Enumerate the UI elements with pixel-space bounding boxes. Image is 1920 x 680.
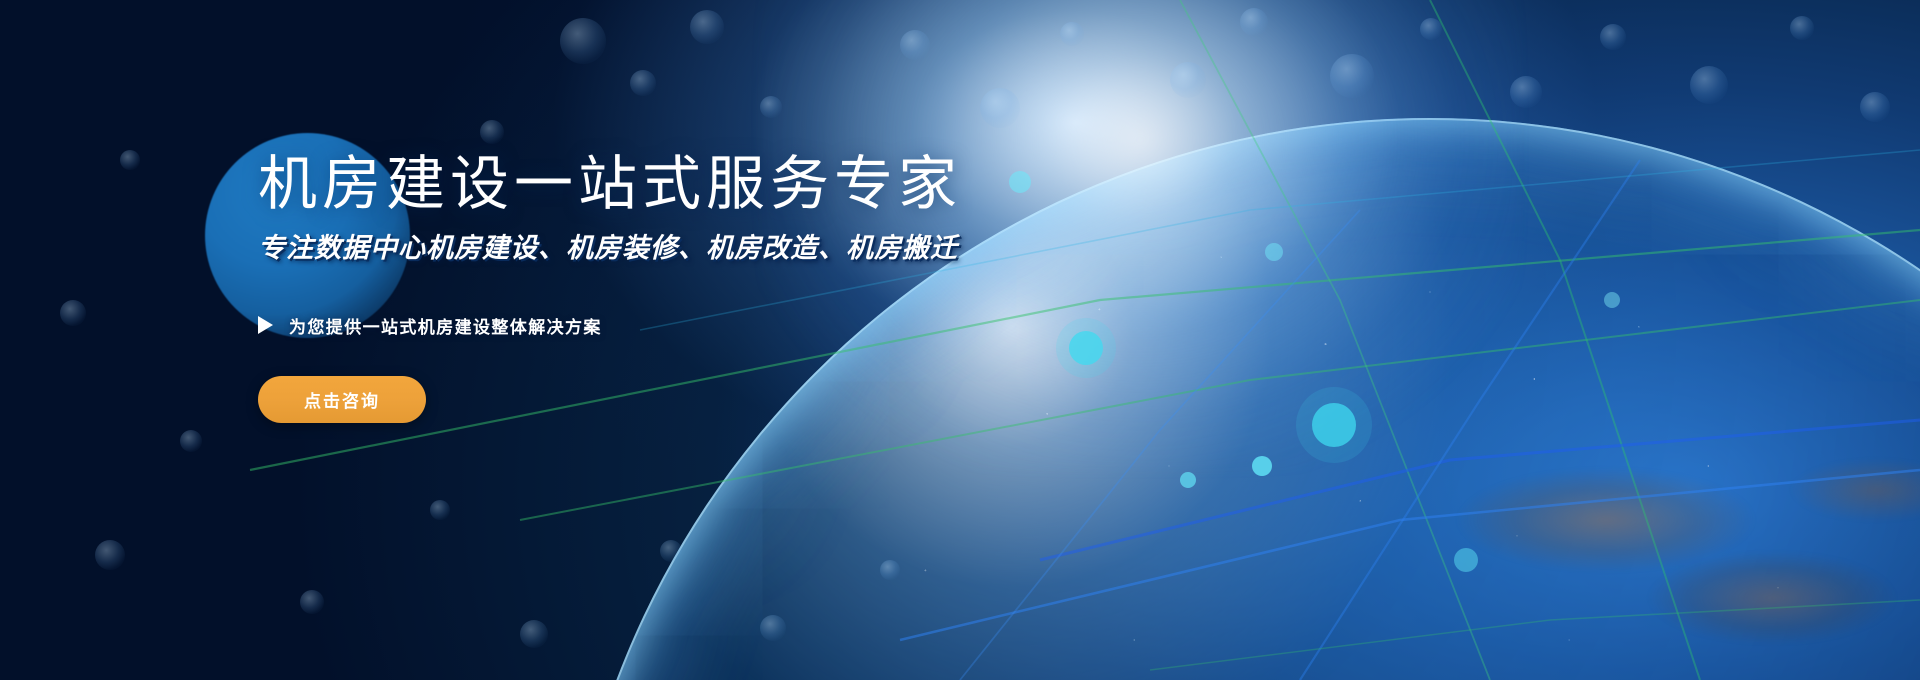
- play-triangle-icon: [258, 316, 273, 334]
- consult-button[interactable]: 点击咨询: [258, 376, 426, 423]
- hero-copy: 机房建设一站式服务专家 专注数据中心机房建设、机房装修、机房改造、机房搬迁 为您…: [258, 150, 1258, 423]
- page-title: 机房建设一站式服务专家: [258, 150, 1258, 220]
- tagline-row: 为您提供一站式机房建设整体解决方案: [258, 313, 1258, 338]
- hero-banner: 机房建设一站式服务专家 专注数据中心机房建设、机房装修、机房改造、机房搬迁 为您…: [0, 0, 1920, 680]
- tagline-text: 为您提供一站式机房建设整体解决方案: [289, 313, 602, 338]
- subtitle: 专注数据中心机房建设、机房装修、机房改造、机房搬迁: [258, 226, 1258, 265]
